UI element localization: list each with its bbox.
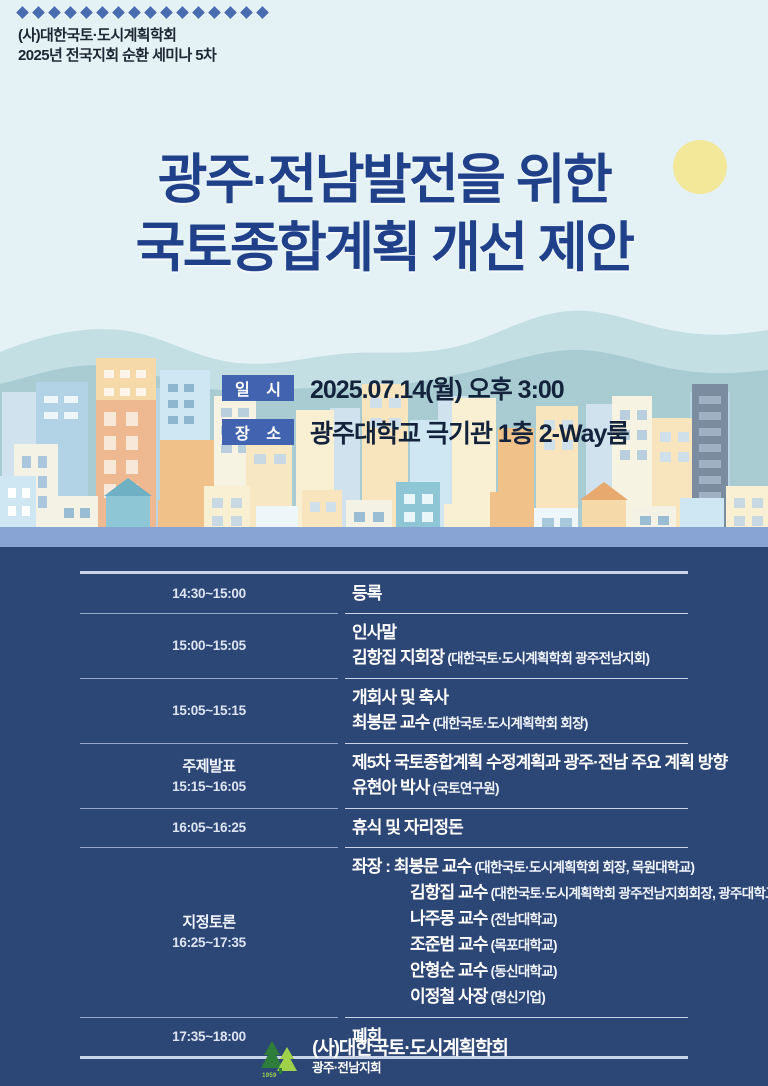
info-row: 일 시2025.07.14(월) 오후 3:00 <box>0 366 768 410</box>
content-main: 유현아 박사 <box>352 778 430 797</box>
footer-logo-block: 1959 (사)대한국토·도시계획학회 광주·전남지회 <box>0 1028 768 1086</box>
diamond-icon <box>128 6 141 19</box>
table-row: 주제발표15:15~16:05제5차 국토종합계획 수정계획과 광주·전남 주요… <box>80 743 688 808</box>
diamond-icon <box>80 6 93 19</box>
row-content-cell: 등록 <box>338 574 688 613</box>
title-line-2: 국토종합계획 개선 제안 <box>0 214 768 282</box>
row-time-cell: 15:00~15:05 <box>80 613 338 678</box>
content-main: 조준범 교수 <box>410 935 488 954</box>
diamond-icon <box>192 6 205 19</box>
section-divider-band <box>0 527 768 547</box>
info-row: 장 소광주대학교 극기관 1층 2-Way룸 <box>0 410 768 454</box>
row-content-line: 유현아 박사 (국토연구원) <box>352 775 727 801</box>
schedule-rows: 14:30~15:00등록15:00~15:05인사말김항집 지회장 (대한국토… <box>80 574 688 1056</box>
row-time-cell: 15:05~15:15 <box>80 678 338 743</box>
content-main: 등록 <box>352 584 381 603</box>
row-session-label: 주제발표 <box>182 756 235 777</box>
footer-org-name: (사)대한국토·도시계획학회 <box>312 1037 508 1060</box>
society-tree-logo-icon: 1959 <box>260 1035 302 1079</box>
poster-root: (사)대한국토·도시계획학회 2025년 전국지회 순환 세미나 5차 광주·전… <box>0 0 768 1086</box>
table-row: 15:05~15:15개회사 및 축사최봉문 교수 (대한국토·도시계획학회 회… <box>80 678 688 743</box>
info-value: 광주대학교 극기관 1층 2-Way룸 <box>310 414 628 450</box>
row-time-text: 15:15~16:05 <box>172 777 246 796</box>
content-main: 휴식 및 자리정돈 <box>352 818 463 837</box>
footer-branch: 광주·전남지회 <box>312 1060 508 1077</box>
row-content-line: 최봉문 교수 (대한국토·도시계획학회 회장) <box>352 710 688 736</box>
row-time-text: 14:30~15:00 <box>172 584 246 603</box>
row-content-line: 안형순 교수 (동신대학교) <box>352 958 768 984</box>
row-content-line: 이정철 사장 (명신기업) <box>352 984 768 1010</box>
row-content-line: 좌장 : 최봉문 교수 (대한국토·도시계획학회 회장, 목원대학교) <box>352 854 768 880</box>
content-main: 제5차 국토종합계획 수정계획과 광주·전남 주요 계획 방향 <box>352 753 727 772</box>
diamond-icon <box>160 6 173 19</box>
content-affiliation: (대한국토·도시계획학회 회장, 목원대학교) <box>471 860 694 875</box>
table-row: 15:00~15:05인사말김항집 지회장 (대한국토·도시계획학회 광주전남지… <box>80 613 688 678</box>
row-content-cell: 개회사 및 축사최봉문 교수 (대한국토·도시계획학회 회장) <box>338 678 688 743</box>
content-main: 나주몽 교수 <box>410 909 488 928</box>
header-series: 2025년 전국지회 순환 세미나 5차 <box>18 46 216 66</box>
content-main: 김항집 지회장 <box>352 648 444 667</box>
row-content-cell: 제5차 국토종합계획 수정계획과 광주·전남 주요 계획 방향유현아 박사 (국… <box>338 743 727 808</box>
diamond-icon <box>224 6 237 19</box>
row-content-line: 나주몽 교수 (전남대학교) <box>352 906 768 932</box>
page-title: 광주·전남발전을 위한 국토종합계획 개선 제안 <box>0 146 768 282</box>
content-main: 개회사 및 축사 <box>352 688 448 707</box>
row-content-cell: 휴식 및 자리정돈 <box>338 808 688 847</box>
info-label-chip: 장 소 <box>222 419 294 445</box>
content-main: 김항집 교수 <box>410 883 488 902</box>
content-main: 좌장 : 최봉문 교수 <box>352 857 471 876</box>
diamond-icon <box>32 6 45 19</box>
content-affiliation: (대한국토·도시계획학회 회장) <box>430 716 588 731</box>
logo-year: 1959 <box>262 1073 277 1079</box>
diamond-icon <box>144 6 157 19</box>
schedule-section: 14:30~15:00등록15:00~15:05인사말김항집 지회장 (대한국토… <box>0 547 768 1086</box>
content-main: 인사말 <box>352 623 396 642</box>
content-affiliation: (목포대학교) <box>488 938 557 953</box>
row-time-cell: 주제발표15:15~16:05 <box>80 743 338 808</box>
diamond-decoration-row <box>18 8 267 17</box>
row-content-line: 인사말 <box>352 620 688 645</box>
row-content-line: 조준범 교수 (목포대학교) <box>352 932 768 958</box>
diamond-icon <box>64 6 77 19</box>
row-content-cell: 인사말김항집 지회장 (대한국토·도시계획학회 광주전남지회) <box>338 613 688 678</box>
row-time-cell: 지정토론16:25~17:35 <box>80 847 338 1017</box>
diamond-icon <box>96 6 109 19</box>
row-content-cell: 좌장 : 최봉문 교수 (대한국토·도시계획학회 회장, 목원대학교)김항집 교… <box>338 847 768 1017</box>
row-time-cell: 16:05~16:25 <box>80 808 338 847</box>
content-affiliation: (국토연구원) <box>430 781 499 796</box>
table-row: 16:05~16:25휴식 및 자리정돈 <box>80 808 688 847</box>
content-main: 안형순 교수 <box>410 961 488 980</box>
table-row: 지정토론16:25~17:35좌장 : 최봉문 교수 (대한국토·도시계획학회 … <box>80 847 688 1017</box>
diamond-icon <box>16 6 29 19</box>
diamond-icon <box>176 6 189 19</box>
row-content-line: 김항집 교수 (대한국토·도시계획학회 광주전남지회회장, 광주대학교) <box>352 880 768 906</box>
row-time-text: 15:00~15:05 <box>172 636 246 655</box>
diamond-icon <box>48 6 61 19</box>
schedule-table: 14:30~15:00등록15:00~15:05인사말김항집 지회장 (대한국토… <box>80 571 688 1059</box>
row-time-text: 16:05~16:25 <box>172 818 246 837</box>
diamond-icon <box>112 6 125 19</box>
content-main: 최봉문 교수 <box>352 713 430 732</box>
diamond-icon <box>240 6 253 19</box>
content-affiliation: (대한국토·도시계획학회 광주전남지회) <box>444 651 649 666</box>
content-affiliation: (전남대학교) <box>488 912 557 927</box>
content-affiliation: (대한국토·도시계획학회 광주전남지회회장, 광주대학교) <box>488 886 768 901</box>
row-content-line: 휴식 및 자리정돈 <box>352 815 688 840</box>
info-label-chip: 일 시 <box>222 375 294 401</box>
table-row: 14:30~15:00등록 <box>80 574 688 613</box>
header-org-name: (사)대한국토·도시계획학회 <box>18 26 216 46</box>
content-main: 이정철 사장 <box>410 987 488 1006</box>
content-affiliation: (명신기업) <box>488 990 546 1005</box>
content-affiliation: (동신대학교) <box>488 964 557 979</box>
row-content-line: 김항집 지회장 (대한국토·도시계획학회 광주전남지회) <box>352 645 688 671</box>
diamond-icon <box>208 6 221 19</box>
row-content-line: 등록 <box>352 581 688 606</box>
event-info-block: 일 시2025.07.14(월) 오후 3:00장 소광주대학교 극기관 1층 … <box>0 366 768 454</box>
header-org-block: (사)대한국토·도시계획학회 2025년 전국지회 순환 세미나 5차 <box>18 26 216 66</box>
row-time-text: 15:05~15:15 <box>172 701 246 720</box>
row-content-line: 제5차 국토종합계획 수정계획과 광주·전남 주요 계획 방향 <box>352 750 727 775</box>
row-content-line: 개회사 및 축사 <box>352 685 688 710</box>
row-time-text: 16:25~17:35 <box>172 933 246 952</box>
info-value: 2025.07.14(월) 오후 3:00 <box>310 370 564 406</box>
diamond-icon <box>256 6 269 19</box>
footer-text: (사)대한국토·도시계획학회 광주·전남지회 <box>312 1037 508 1077</box>
title-line-1: 광주·전남발전을 위한 <box>0 146 768 214</box>
row-time-cell: 14:30~15:00 <box>80 574 338 613</box>
row-session-label: 지정토론 <box>182 912 235 933</box>
